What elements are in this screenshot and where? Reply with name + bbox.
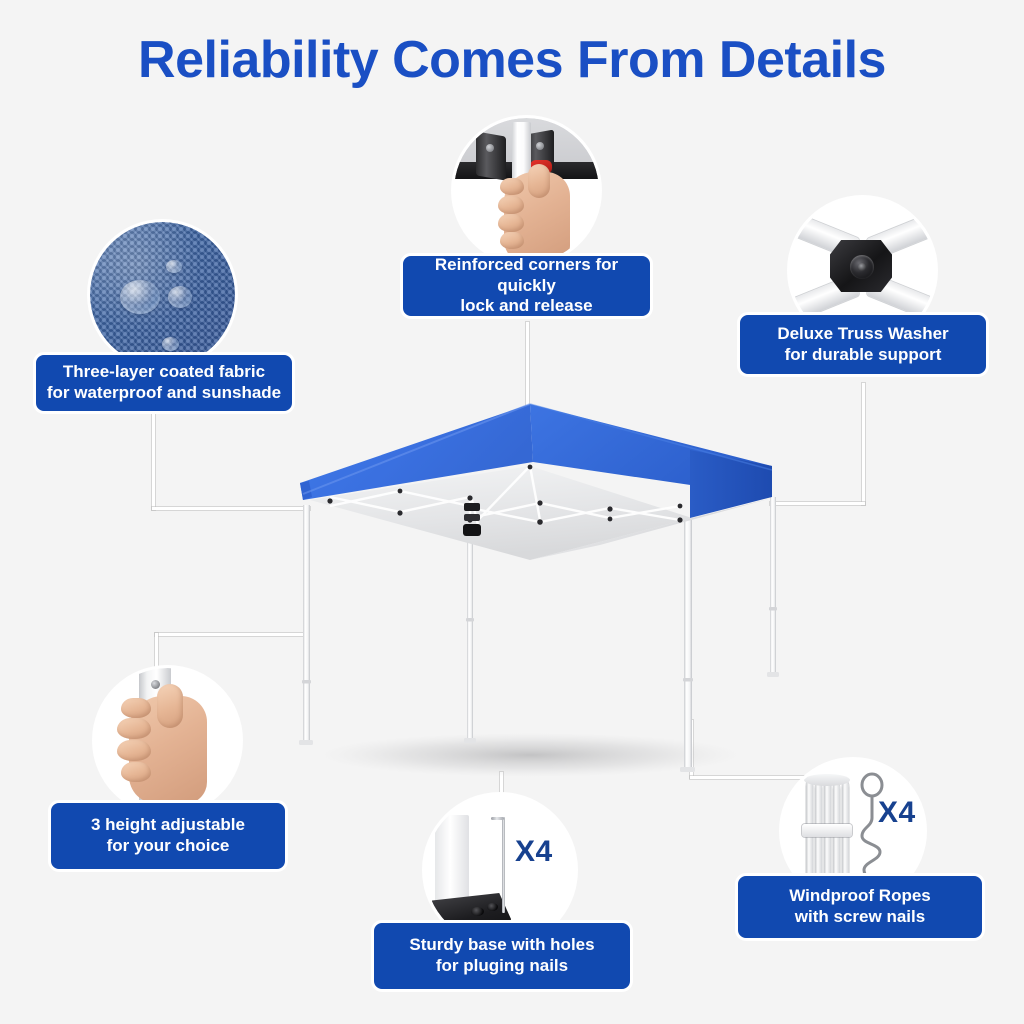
infographic-page: Reliability Comes From Details <box>0 0 1024 1024</box>
callout-height-line1: 3 height adjustable <box>91 815 245 836</box>
height-adjust-pole-photo <box>95 668 240 813</box>
callout-base-line1: Sturdy base with holes <box>409 935 594 956</box>
reinforced-corner-lock-photo <box>454 118 599 263</box>
callout-ropes-line2: with screw nails <box>789 907 931 928</box>
callout-truss-line2: for durable support <box>777 345 948 366</box>
callout-fabric-line1: Three-layer coated fabric <box>47 362 281 383</box>
callout-ropes-line1: Windproof Ropes <box>789 886 931 907</box>
callout-base-line2: for pluging nails <box>409 956 594 977</box>
callout-height-label[interactable]: 3 height adjustable for your choice <box>48 800 288 872</box>
callout-ropes-label[interactable]: Windproof Ropes with screw nails <box>735 873 985 941</box>
callout-truss-label[interactable]: Deluxe Truss Washer for durable support <box>737 312 989 377</box>
callout-fabric-label[interactable]: Three-layer coated fabric for waterproof… <box>33 352 295 414</box>
coated-fabric-swatch-photo <box>90 222 235 367</box>
callout-base-label[interactable]: Sturdy base with holes for pluging nails <box>371 920 633 992</box>
callout-truss-line1: Deluxe Truss Washer <box>777 324 948 345</box>
callout-corners-line1: Reinforced corners for quickly <box>413 255 640 296</box>
callout-height-line2: for your choice <box>91 836 245 857</box>
callout-corners-line2: lock and release <box>413 296 640 317</box>
callout-fabric-line2: for waterproof and sunshade <box>47 383 281 404</box>
base-quantity-badge: X4 <box>515 835 553 869</box>
ropes-quantity-badge: X4 <box>878 796 916 830</box>
callout-corners-label[interactable]: Reinforced corners for quickly lock and … <box>400 253 653 319</box>
